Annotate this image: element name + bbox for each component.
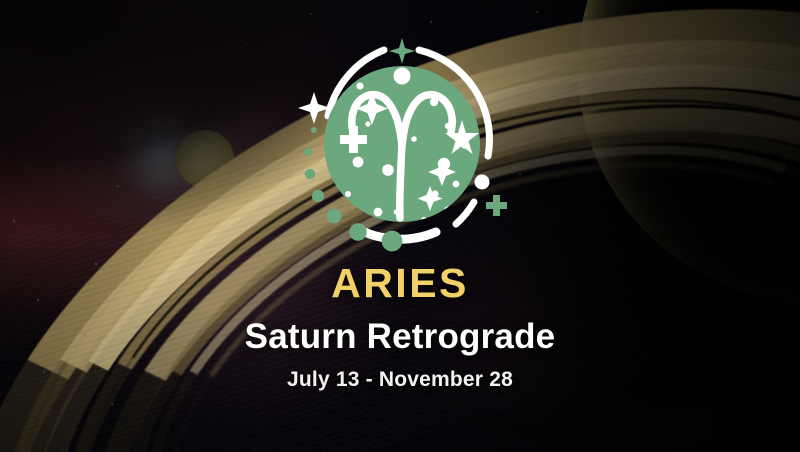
banner-text-block: ARIES Saturn Retrograde July 13 - Novemb… xyxy=(0,262,800,391)
zodiac-sign-title: ARIES xyxy=(0,262,800,305)
aries-emblem xyxy=(296,34,508,264)
event-title: Saturn Retrograde xyxy=(0,319,800,356)
date-range: July 13 - November 28 xyxy=(0,369,800,391)
zodiac-banner: ARIES Saturn Retrograde July 13 - Novemb… xyxy=(0,0,800,452)
